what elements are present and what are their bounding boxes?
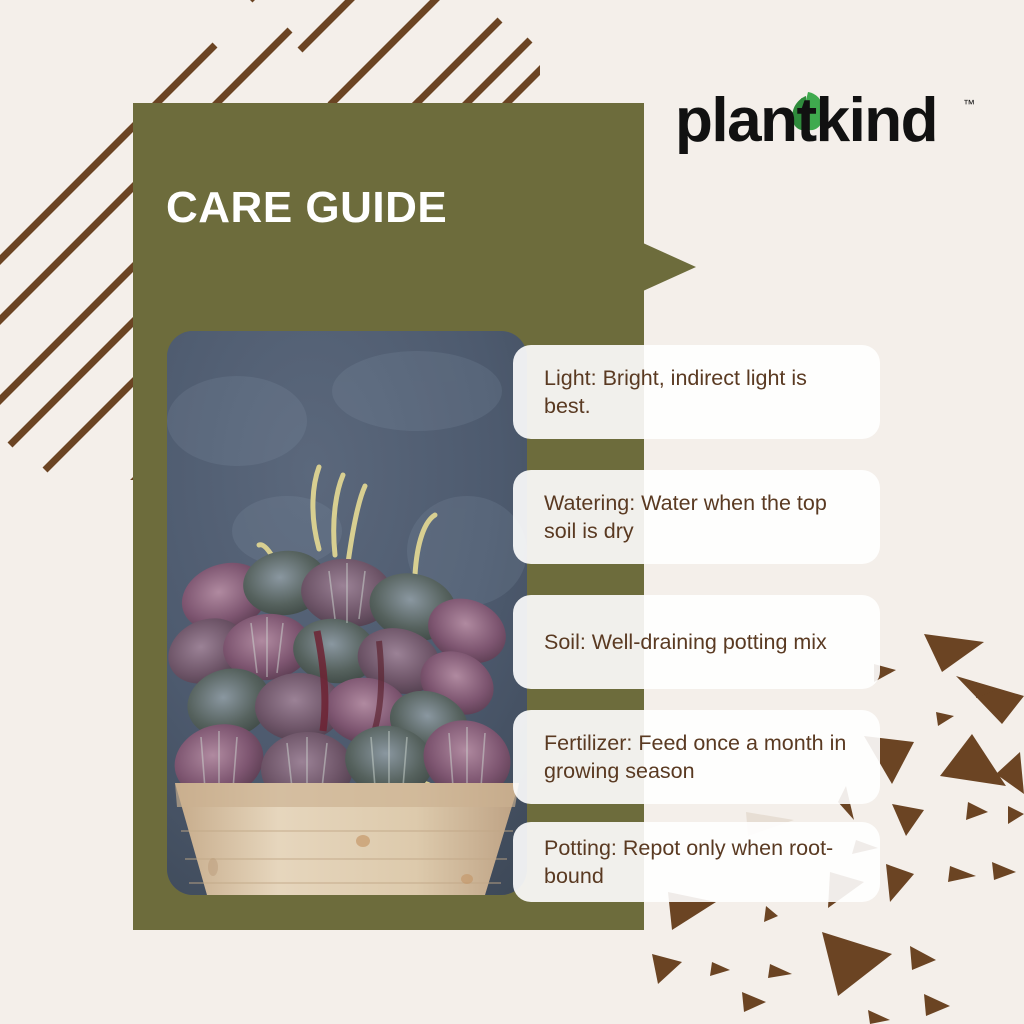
brand-logo[interactable]: plantkind ™ bbox=[675, 86, 985, 158]
care-guide-poster: CARE GUIDE plantkind ™ bbox=[0, 0, 1024, 1024]
care-tip-text: Potting: Repot only when root-bound bbox=[544, 834, 856, 891]
care-tip-card-soil[interactable]: Soil: Well-draining potting mix bbox=[513, 595, 880, 689]
care-tip-text: Light: Bright, indirect light is best. bbox=[544, 364, 856, 421]
care-tip-card-potting[interactable]: Potting: Repot only when root-bound bbox=[513, 822, 880, 902]
panel-speech-notch bbox=[643, 243, 696, 291]
svg-text:plantkind: plantkind bbox=[675, 86, 937, 155]
care-tip-card-watering[interactable]: Watering: Water when the top soil is dry bbox=[513, 470, 880, 564]
care-tip-text: Fertilizer: Feed once a month in growing… bbox=[544, 729, 856, 786]
care-tip-text: Soil: Well-draining potting mix bbox=[544, 628, 827, 656]
page-title: CARE GUIDE bbox=[166, 186, 447, 230]
care-tip-card-light[interactable]: Light: Bright, indirect light is best. bbox=[513, 345, 880, 439]
svg-text:™: ™ bbox=[963, 97, 975, 111]
care-tip-card-fertilizer[interactable]: Fertilizer: Feed once a month in growing… bbox=[513, 710, 880, 804]
care-tip-text: Watering: Water when the top soil is dry bbox=[544, 489, 856, 546]
plant-photo bbox=[167, 331, 527, 895]
